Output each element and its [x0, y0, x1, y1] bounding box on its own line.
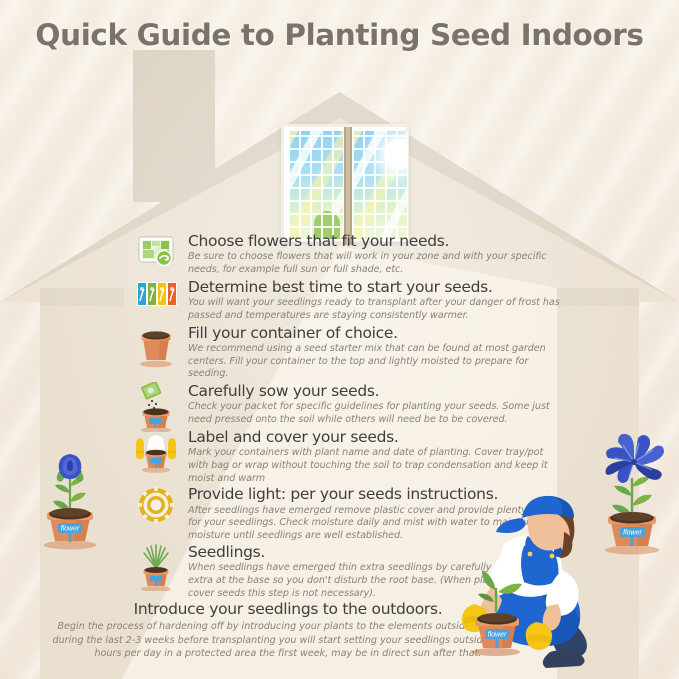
step-text-block: Fill your container of choice. We recomm… — [136, 324, 566, 382]
step-title: Choose flowers that fit your needs. — [188, 232, 566, 250]
window-pane-right — [352, 131, 408, 241]
step-body: Be sure to choose flowers that will work… — [188, 251, 566, 277]
seed-catalog-icon — [136, 232, 182, 278]
window-illustration — [281, 124, 409, 242]
step-item: Determine best time to start your seeds.… — [136, 278, 566, 323]
seed-packets-icon — [136, 278, 182, 324]
step-text-block: Carefully sow your seeds. Check your pac… — [136, 382, 566, 427]
step-text-block: Choose flowers that fit your needs. Be s… — [136, 232, 566, 277]
step-title: Carefully sow your seeds. — [188, 382, 566, 400]
sun-icon — [136, 485, 182, 531]
step-item: Fill your container of choice. We recomm… — [136, 324, 566, 382]
sowing-seeds-icon — [136, 382, 182, 428]
window-center-split — [346, 127, 350, 245]
infographic-poster: Quick Guide to Planting Seed Indoors — [0, 0, 679, 679]
gloves-covered-pot-icon — [136, 428, 182, 474]
step-body: Mark your containers with plant name and… — [188, 447, 566, 485]
page-title: Quick Guide to Planting Seed Indoors — [0, 18, 679, 52]
step-title: Fill your container of choice. — [188, 324, 566, 342]
potted-rose-icon: flower — [28, 430, 114, 550]
sun-icon — [384, 139, 408, 169]
svg-text:flower: flower — [488, 632, 507, 639]
step-body: We recommend using a seed starter mix th… — [188, 343, 566, 381]
step-title: Determine best time to start your seeds. — [188, 278, 566, 296]
step-item: Carefully sow your seeds. Check your pac… — [136, 382, 566, 427]
svg-text:flower: flower — [61, 526, 80, 533]
step-text-block: Determine best time to start your seeds.… — [136, 278, 566, 323]
filled-pot-icon — [136, 324, 182, 370]
gardener-with-seedling-pot-icon: flower — [440, 492, 640, 679]
step-text-block: Label and cover your seeds. Mark your co… — [136, 428, 566, 486]
step-item: Label and cover your seeds. Mark your co… — [136, 428, 566, 486]
seedlings-pot-icon — [136, 543, 182, 589]
step-title: Label and cover your seeds. — [188, 428, 566, 446]
step-body: Check your packet for specific guideline… — [188, 401, 566, 427]
window-pane-left — [288, 131, 344, 241]
step-body: You will want your seedlings ready to tr… — [188, 297, 566, 323]
step-item: Choose flowers that fit your needs. Be s… — [136, 232, 566, 277]
